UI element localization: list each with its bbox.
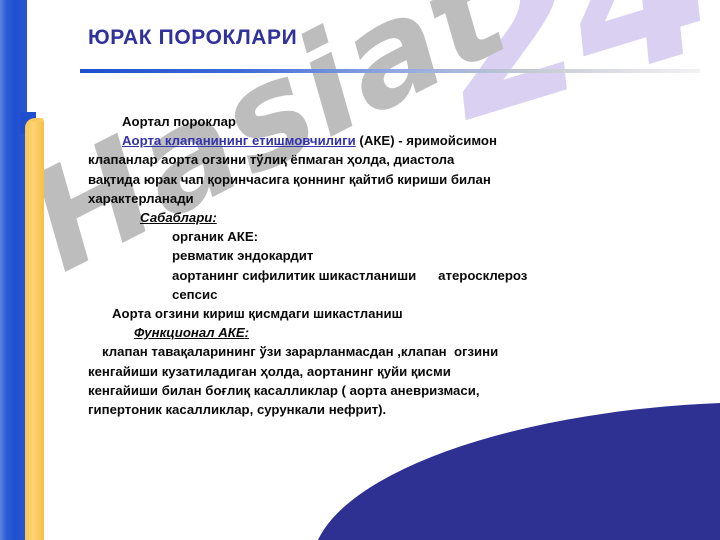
paragraph-line-4: характерланади: [88, 189, 688, 208]
aorta-entrance-line: Аорта огзини кириш қисмдаги шикастланиш: [112, 304, 688, 323]
causes-label-text: Сабаблари:: [140, 210, 217, 225]
hyperlink-aorta-clapan[interactable]: Аорта клапанининг етишмовчилиги: [122, 133, 356, 148]
body-heading: Аортал пороклар: [122, 112, 688, 131]
link-line: Аорта клапанининг етишмовчилиги (АКЕ) - …: [122, 131, 688, 150]
functional-line: кенгайиши кузатиладиган ҳолда, аортанинг…: [88, 362, 688, 381]
cause-item: сепсис: [172, 285, 688, 304]
paragraph-line-3: вақтида юрак чап қоринчасига қоннинг қай…: [88, 170, 688, 189]
functional-label: Функционал АКЕ:: [134, 323, 688, 342]
corner-wave-base: [460, 482, 720, 540]
title-divider-rule: [80, 69, 700, 73]
functional-line: гипертоник касалликлар, сурункали нефрит…: [88, 400, 688, 419]
functional-label-text: Функционал АКЕ: [134, 325, 245, 340]
link-tail-text: (АКЕ) - яримойсимон: [356, 133, 497, 148]
slide-canvas: 24 Hasiat ЮРАК ПОРОКЛАРИ Аортал пороклар…: [0, 0, 720, 540]
sidebar-blue-bar: [0, 0, 27, 540]
slide-body: Аортал пороклар Аорта клапанининг етишмо…: [88, 112, 688, 419]
cause-item: аортанинг сифилитик шикастланиши атероск…: [172, 266, 688, 285]
page-title: ЮРАК ПОРОКЛАРИ: [88, 26, 297, 50]
causes-label: Сабаблари:: [140, 208, 688, 227]
sidebar-yellow-strip: [25, 122, 44, 540]
functional-line: кенгайиши билан боғлиқ касалликлар ( аор…: [88, 381, 688, 400]
cause-item: органик АКЕ:: [172, 227, 688, 246]
functional-line: клапан тавақаларининг ўзи зарарланмасдан…: [102, 342, 688, 361]
cause-item: ревматик эндокардит: [172, 246, 688, 265]
paragraph-line-2: клапанлар аорта огзини тўлиқ ёпмаган ҳол…: [88, 150, 688, 169]
functional-label-colon: :: [245, 325, 249, 340]
